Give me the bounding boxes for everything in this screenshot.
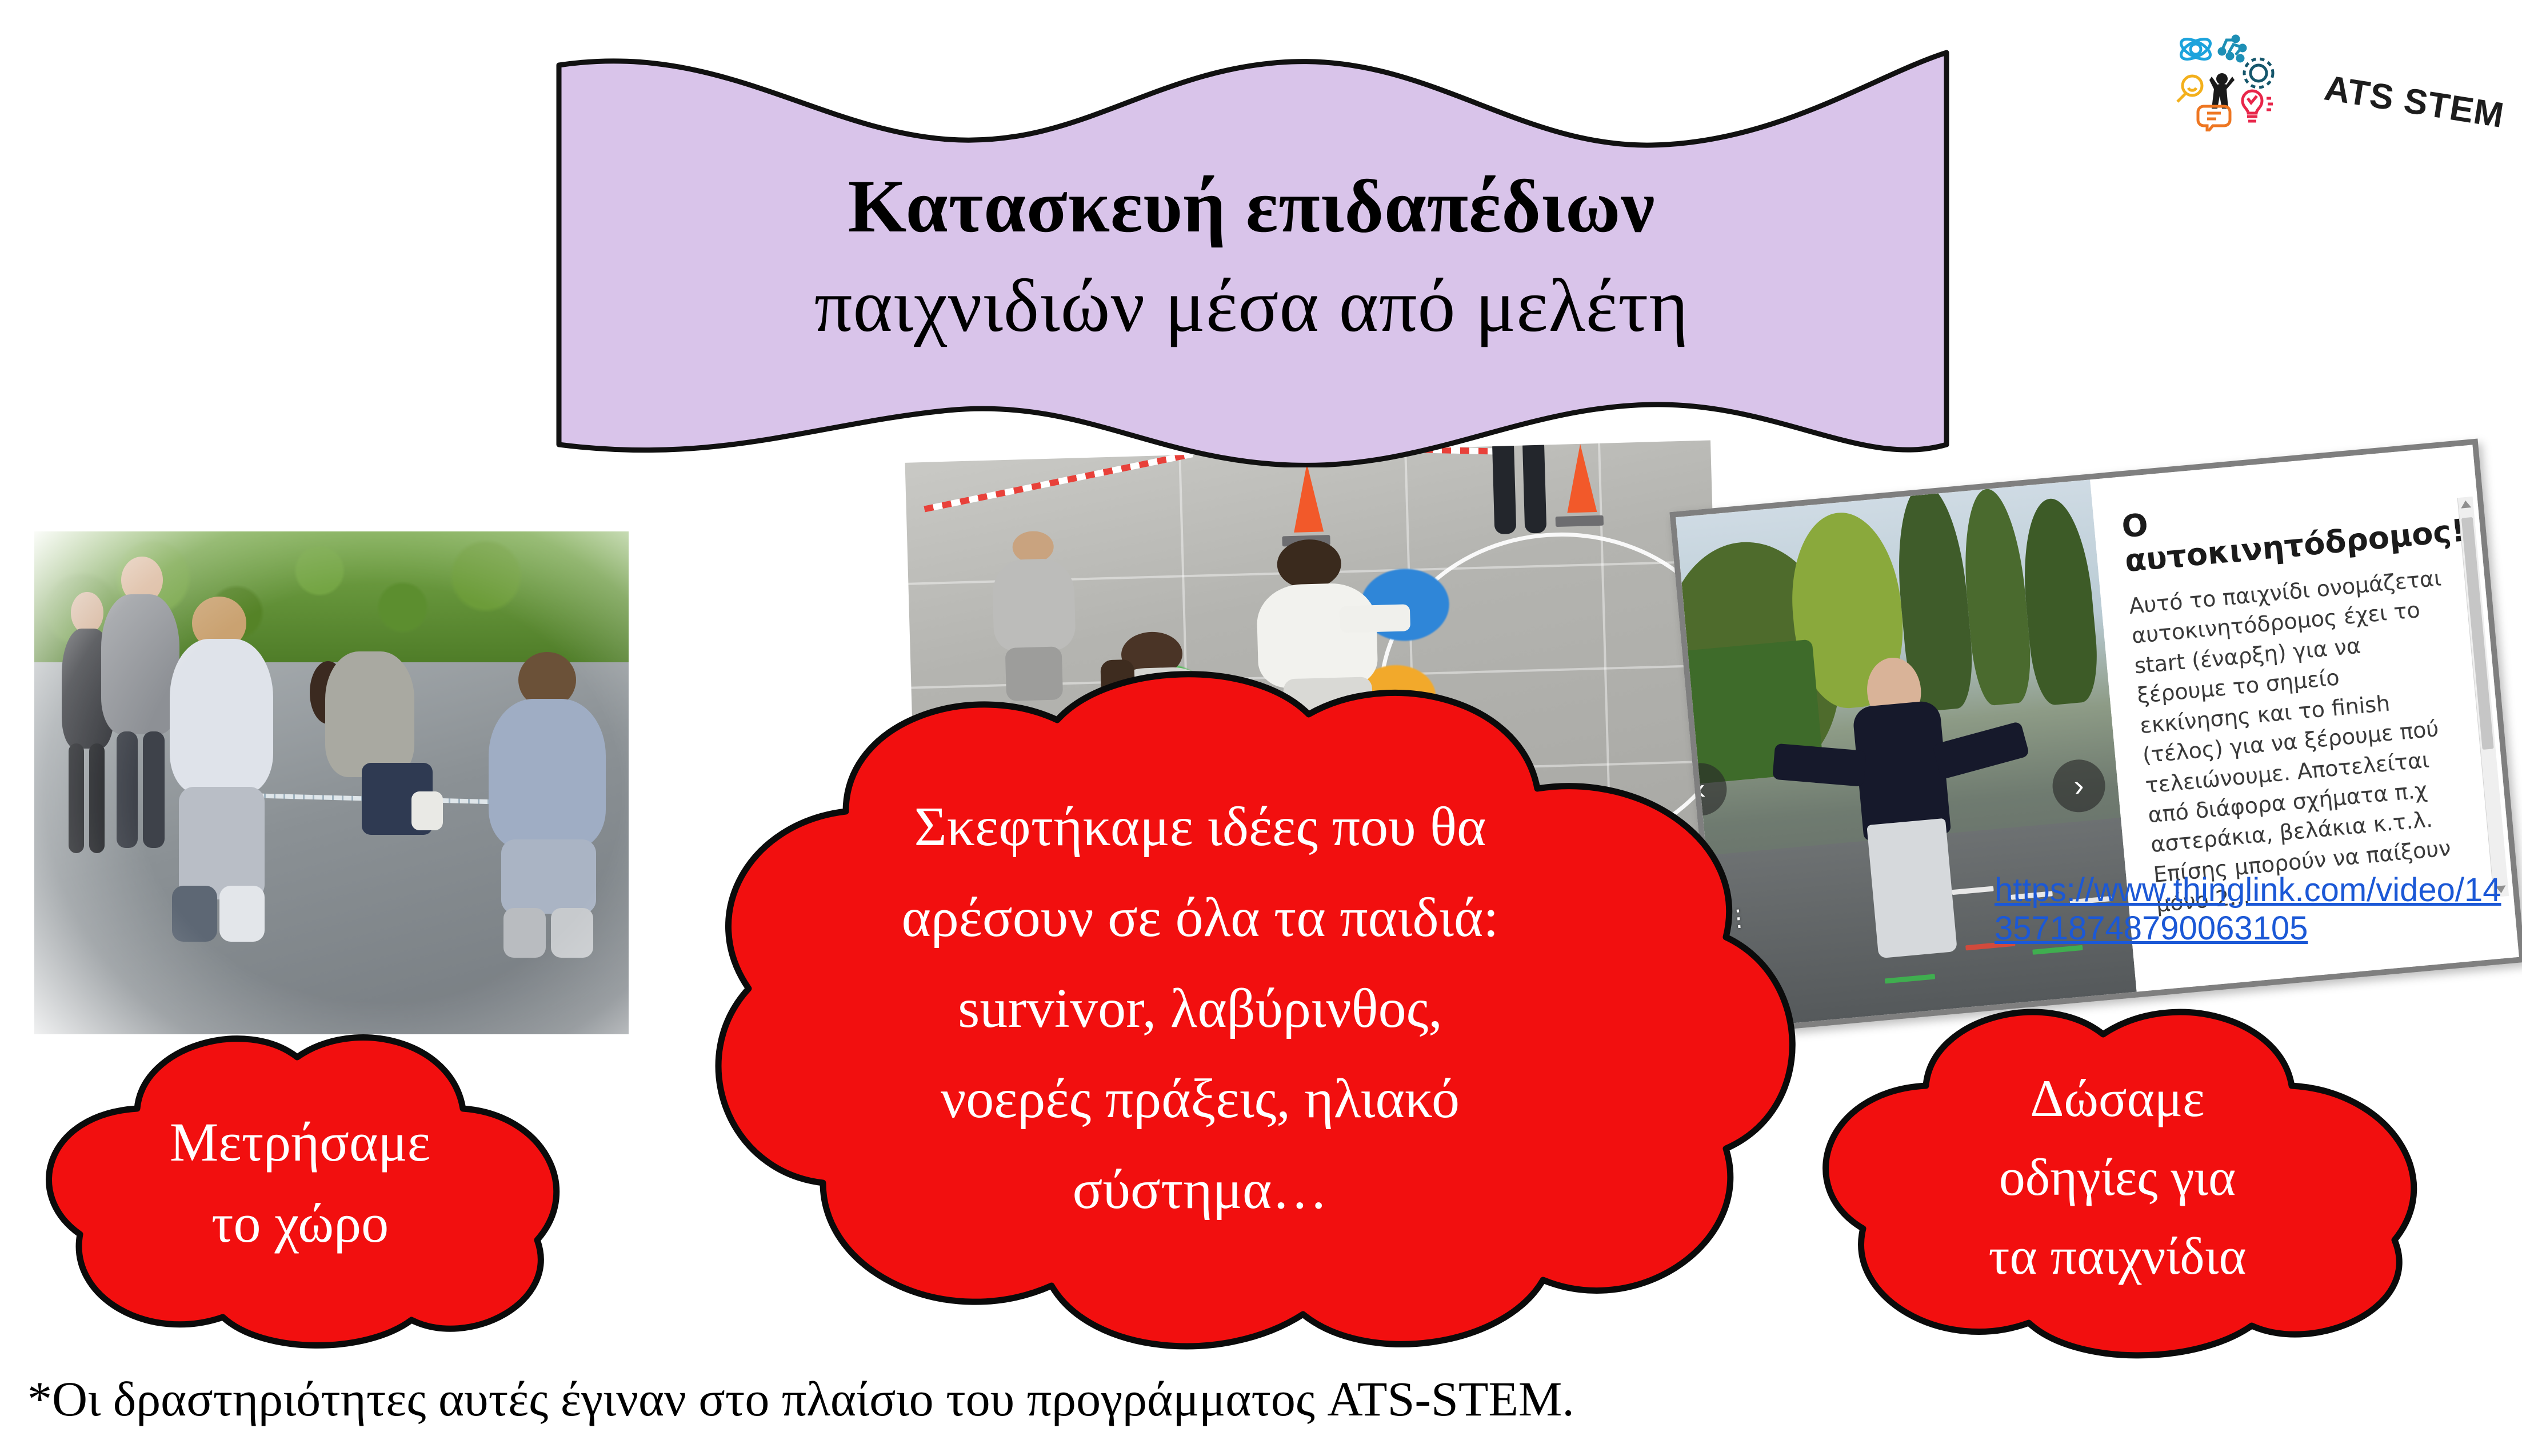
cloud-rules-text: Δώσαμε οδηγίες για τα παιχνίδια (1777, 1000, 2457, 1354)
title-banner: Κατασκευή επιδαπέδιων παιχνιδιών μέσα απ… (549, 45, 1955, 467)
cloud-measure: Μετρήσαμε το χώρο (11, 1023, 589, 1343)
title-line-1: Κατασκευή επιδαπέδιων (848, 157, 1656, 256)
title-line-2: παιχνιδιών μέσα από μελέτη (814, 256, 1689, 355)
traffic-cone-1 (1292, 463, 1324, 532)
thinglink-body: Αυτό το παιχνίδι ονομάζεται αυτοκινητόδρ… (2128, 563, 2473, 920)
ats-stem-logo: ATS STEM (2172, 23, 2503, 137)
cloud-ideas-text: Σκεφτήκαμε ιδέες που θα αρέσουν σε όλα τ… (577, 657, 1823, 1360)
cloud-rules: Δώσαμε οδηγίες για τα παιχνίδια (1777, 1000, 2457, 1354)
cloud-ideas-line-5: σύστημα… (1073, 1145, 1328, 1235)
child-kneeling-sweater (302, 642, 433, 883)
ats-stem-wordmark: ATS STEM (2321, 67, 2507, 136)
cloud-ideas-line-3: survivor, λαβύρινθος, (958, 963, 1442, 1054)
thinglink-heading: Ο αυτοκινητόδρομος!!!!! (2120, 482, 2442, 579)
traffic-cone-2-base (1556, 515, 1604, 527)
cloud-rules-line-3: τα παιχνίδια (1988, 1217, 2246, 1295)
scroll-up-icon[interactable] (2460, 500, 2471, 509)
cloud-measure-line-2: το χώρο (211, 1183, 389, 1264)
scrollbar-thumb[interactable] (2461, 517, 2494, 750)
gear-icon (2244, 59, 2273, 87)
thinglink-url-link[interactable]: https://www.thinglink.com/video/14357187… (1995, 871, 2509, 948)
presenter-child (1676, 479, 2090, 517)
circuit-icon (2219, 36, 2245, 61)
cloud-ideas-line-4: νοερές πράξεις, ηλιακό (941, 1054, 1460, 1145)
child-white-shirt-kneeling (165, 597, 278, 949)
speech-bubble-icon (2198, 106, 2230, 131)
title-banner-text: Κατασκευή επιδαπέδιων παιχνιδιών μέσα απ… (549, 45, 1955, 467)
footnote: *Οι δραστηριότητες αυτές έγιναν στο πλαί… (27, 1370, 1574, 1427)
atom-icon (2178, 35, 2213, 63)
lightbulb-icon (2243, 91, 2273, 121)
cloud-measure-text: Μετρήσαμε το χώρο (11, 1023, 589, 1343)
magnifier-icon (2177, 76, 2202, 102)
cloud-ideas-line-2: αρέσουν σε όλα τα παιδιά: (902, 873, 1499, 963)
cloud-ideas: Σκεφτήκαμε ιδέες που θα αρέσουν σε όλα τ… (577, 657, 1823, 1360)
cloud-measure-line-1: Μετρήσαμε (170, 1102, 430, 1183)
cloud-ideas-line-1: Σκεφτήκαμε ιδέες που θα (914, 782, 1486, 873)
slide-canvas: ‹ › ⋮ Ο αυτοκινητόδρομος!!!!! Αυτό το πα… (0, 0, 2522, 1456)
person-icon (2209, 73, 2235, 109)
cloud-rules-line-2: οδηγίες για (1999, 1138, 2236, 1217)
cloud-rules-line-1: Δώσαμε (2030, 1059, 2204, 1138)
next-arrow-button[interactable]: › (2051, 757, 2108, 814)
photo-measuring[interactable] (34, 531, 629, 1034)
